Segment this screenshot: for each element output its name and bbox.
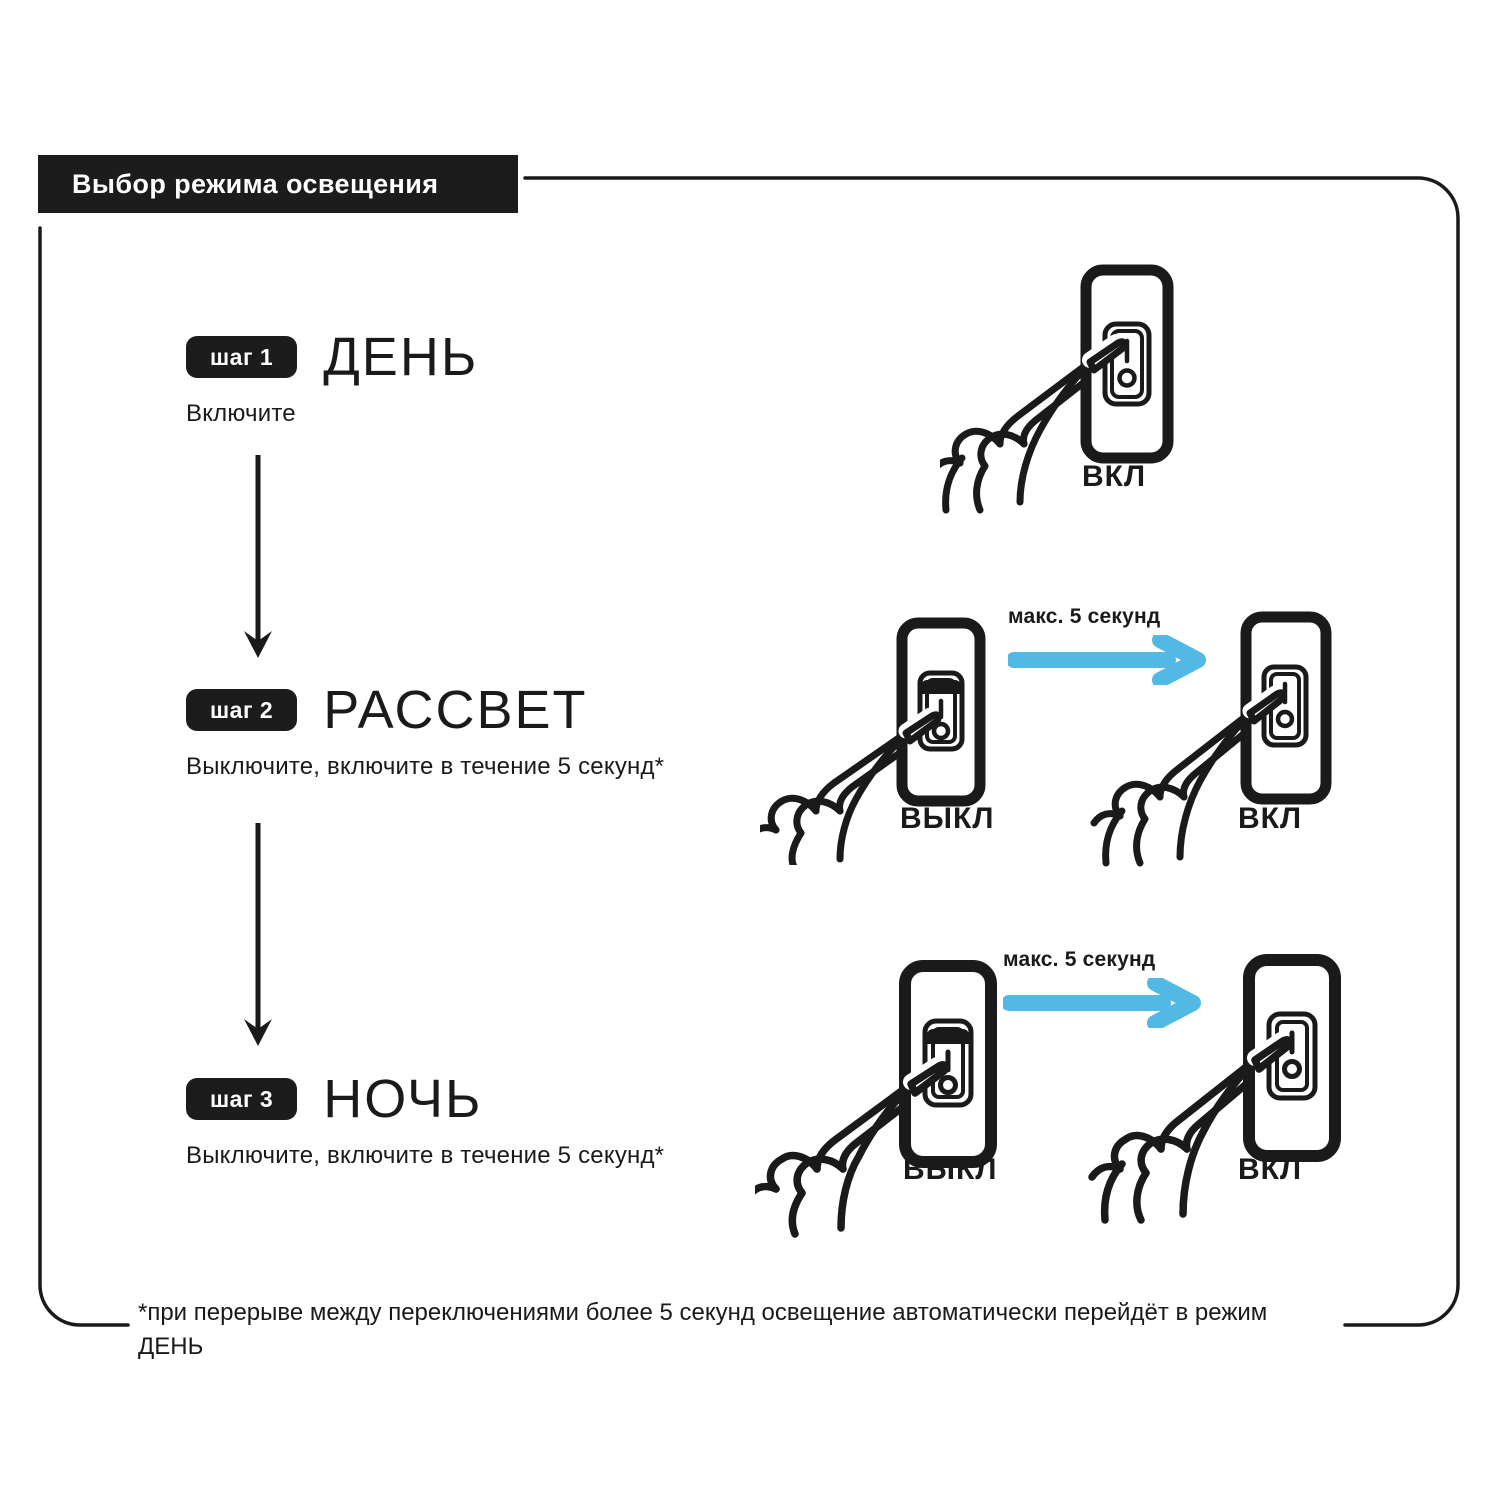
step-1: шаг 1 ДЕНЬ Включите [186, 330, 478, 428]
step-3-subtitle: Выключите, включите в течение 5 секунд* [186, 1142, 664, 1170]
hand-pointing-icon [1094, 713, 1252, 863]
illustration-row-3: ВЫКЛ макс. 5 секунд [755, 948, 1355, 1238]
switch-on-with-hand-3 [1085, 948, 1365, 1238]
rocker-switch-off-icon [902, 623, 980, 801]
step-3-title: НОЧЬ [323, 1072, 482, 1126]
card-title: Выбор режима освещения [72, 169, 438, 200]
step-3-badge-label: шаг 3 [210, 1086, 273, 1113]
step-1-subtitle: Включите [186, 400, 478, 428]
switch-on-with-hand-2 [1090, 605, 1350, 875]
row-3-switch-off-caption: ВЫКЛ [903, 1153, 997, 1187]
step-2-title: РАССВЕТ [323, 683, 587, 737]
row-1-switch-on-caption: ВКЛ [1082, 460, 1146, 494]
hand-pointing-icon [1092, 1060, 1257, 1220]
row-2-switch-on-caption: ВКЛ [1238, 802, 1302, 836]
step-2-heading-row: шаг 2 РАССВЕТ [186, 683, 664, 737]
step-1-badge: шаг 1 [186, 336, 297, 378]
hand-pointing-icon [940, 362, 1092, 510]
hand-pointing-icon [760, 733, 908, 865]
flow-arrow-down-2 [238, 823, 278, 1053]
step-2: шаг 2 РАССВЕТ Выключите, включите в тече… [186, 683, 664, 781]
illustration-row-1: ВКЛ [940, 258, 1240, 518]
step-1-heading-row: шаг 1 ДЕНЬ [186, 330, 478, 384]
step-1-title: ДЕНЬ [323, 330, 478, 384]
step-2-subtitle: Выключите, включите в течение 5 секунд* [186, 753, 664, 781]
step-3-heading-row: шаг 3 НОЧЬ [186, 1072, 664, 1126]
step-3: шаг 3 НОЧЬ Выключите, включите в течение… [186, 1072, 664, 1170]
card-title-badge: Выбор режима освещения [38, 155, 518, 213]
row-3-switch-on-caption: ВКЛ [1238, 1153, 1302, 1187]
step-3-badge: шаг 3 [186, 1078, 297, 1120]
footnote: *при перерыве между переключениями более… [138, 1296, 1318, 1364]
step-2-badge: шаг 2 [186, 689, 297, 731]
step-2-badge-label: шаг 2 [210, 697, 273, 724]
illustration-row-2: ВЫКЛ макс. 5 секунд [760, 605, 1340, 875]
flow-arrow-down-1 [238, 455, 278, 665]
step-1-badge-label: шаг 1 [210, 344, 273, 371]
hand-pointing-icon [755, 1084, 913, 1234]
switch-off-with-hand-3 [755, 948, 1035, 1238]
row-2-switch-off-caption: ВЫКЛ [900, 802, 994, 836]
instruction-card: Выбор режима освещения шаг 1 ДЕНЬ Включи… [0, 0, 1500, 1500]
